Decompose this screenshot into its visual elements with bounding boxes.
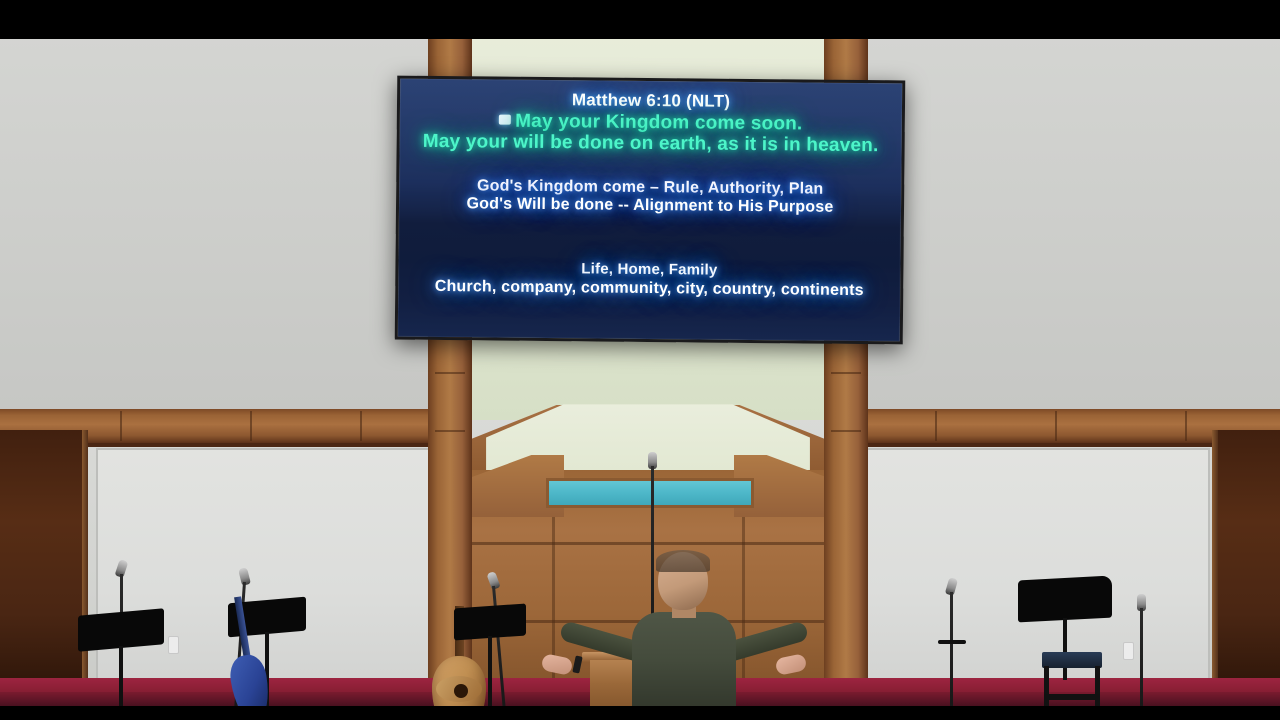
wall-outlet-left [168, 636, 179, 654]
preacher [596, 552, 796, 720]
wall-panel-right [860, 448, 1210, 688]
stage-chair [1042, 640, 1102, 712]
doorway-right [1212, 430, 1280, 692]
presentation-slide: Matthew 6:10 (NLT) May your Kingdom come… [398, 79, 902, 342]
preacher-hair [656, 550, 710, 572]
video-stage: Matthew 6:10 (NLT) May your Kingdom come… [0, 0, 1280, 720]
letterbox-bottom [0, 706, 1280, 720]
slide-verse-line-1-text: May your Kingdom come soon. [515, 111, 802, 135]
baptistry-window [546, 478, 754, 508]
projection-screen: Matthew 6:10 (NLT) May your Kingdom come… [395, 76, 906, 345]
slide-scripture-reference: Matthew 6:10 (NLT) [408, 89, 894, 113]
slide-application-2: Church, company, community, city, countr… [406, 278, 892, 301]
letterbox-top [0, 0, 1280, 39]
wall-outlet-right [1123, 642, 1134, 660]
preacher-torso [632, 612, 736, 720]
verse-number-marker [499, 115, 511, 125]
doorway-left [0, 430, 88, 692]
slide-spacer-2 [407, 214, 893, 265]
